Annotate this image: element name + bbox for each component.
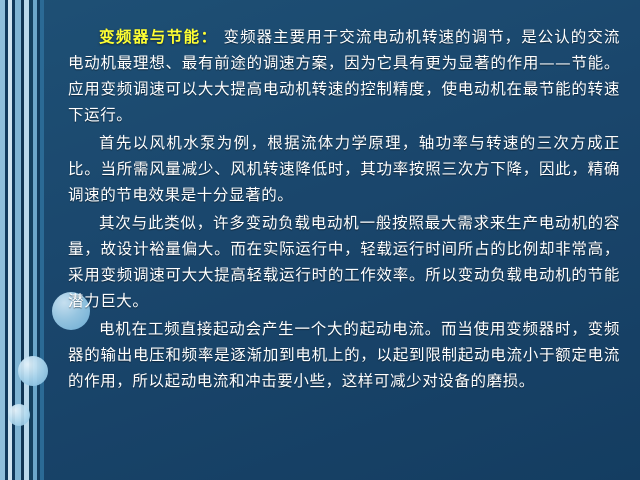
paragraph-3: 其次与此类似，许多变动负载电动机一般按照最大需求来生产电动机的容量，故设计裕量偏… xyxy=(68,210,620,314)
paragraph-4: 电机在工频直接起动会产生一个大的起动电流。而当使用变频器时，变频器的输出电压和频… xyxy=(68,316,620,394)
paragraph-2: 首先以风机水泵为例，根据流体力学原理，轴功率与转速的三次方成正比。当所需风量减少… xyxy=(68,130,620,208)
slide-canvas: 变频器与节能： 变频器主要用于交流电动机转速的调节，是公认的交流电动机最理想、最… xyxy=(0,0,640,480)
slide-title-run: 变频器与节能： xyxy=(99,28,218,46)
decorative-circle-small xyxy=(8,404,30,426)
decorative-circle-medium xyxy=(18,356,48,386)
paragraph-1: 变频器与节能： 变频器主要用于交流电动机转速的调节，是公认的交流电动机最理想、最… xyxy=(68,24,620,128)
stripe-11 xyxy=(40,0,44,480)
slide-text-body: 变频器与节能： 变频器主要用于交流电动机转速的调节，是公认的交流电动机最理想、最… xyxy=(68,24,620,396)
